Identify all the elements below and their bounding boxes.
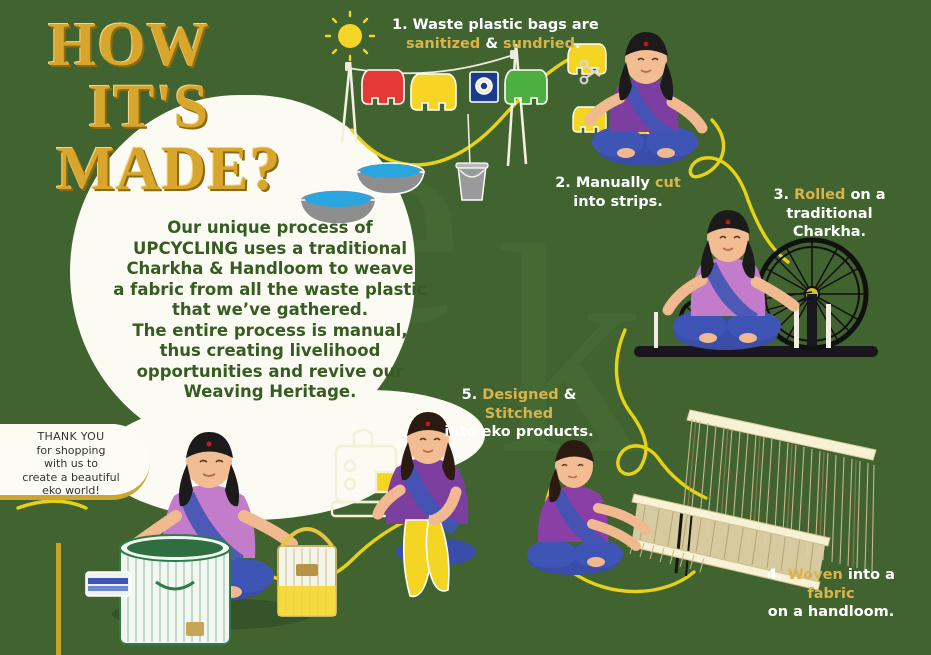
step-5-highlight-1: Designed [482,387,558,403]
step-3-text-1: on a [845,187,885,203]
step-1-text-1: Waste plastic bags are [408,17,599,33]
step-5-caption: 5. Designed & Stitched into eko products… [433,386,605,442]
thanks-line-2: for shopping [2,444,140,458]
title-line-1: HOW [48,14,348,76]
step-5-highlight-2: Stitched [485,406,553,422]
gold-vertical-rule [56,543,61,655]
step-4-caption: 4. Woven into a fabric on a handloom. [745,566,917,622]
step-1-amp: & [480,36,503,52]
thanks-line-3: with us to [2,457,140,471]
step-3-highlight: Rolled [794,187,845,203]
thank-you-banner: THANK YOU for shopping with us to create… [0,424,150,500]
step-2-highlight: cut [655,175,681,191]
step-3-number: 3. [773,187,789,203]
thanks-line-5: eko world! [2,484,140,498]
step-2-number: 2. [555,175,571,191]
intro-line-7: thus creating livelihood [110,341,430,362]
step-5-line-2: into eko products. [444,424,593,440]
intro-line-6: The entire process is manual, [110,321,430,342]
step-2-line-2: into strips. [573,194,662,210]
step-1-highlight-2: sundried [503,36,575,52]
intro-line-4: a fabric from all the waste plastic [110,280,430,301]
title-line-3: MADE? [56,138,348,200]
intro-line-9: Weaving Heritage. [110,382,430,403]
step-1-number: 1. [392,17,408,33]
step-3-caption: 3. Rolled on a traditional Charkha. [752,186,907,242]
step-1-highlight-1: sanitized [406,36,480,52]
step-5-amp: & [559,387,577,403]
step-4-number: 4. [767,567,783,583]
step-4-line-2: on a handloom. [768,604,895,620]
eko-wallet [86,572,130,596]
step-4-highlight-1: Woven [788,567,843,583]
step-2-text-1: Manually [571,175,655,191]
woman-weaving [512,432,682,602]
title-line-2: IT'S [88,76,348,138]
infographic-poster: e k HOW IT'S MADE? [0,0,931,655]
intro-line-3: Charkha & Handloom to weave [110,259,430,280]
step-4-text-1: into a [843,567,895,583]
intro-line-8: opportunities and revive our [110,362,430,383]
step-1-period: . [575,36,581,52]
eko-small-basket [278,529,336,616]
thanks-line-1: THANK YOU [2,430,140,444]
intro-line-5: that we’ve gathered. [110,300,430,321]
step-1-caption: 1. Waste plastic bags are sanitized & su… [392,16,599,53]
eko-storage-bin [120,535,230,644]
thanks-line-4: create a beautiful [2,471,140,485]
intro-line-1: Our unique process of [110,218,430,239]
green-bag [505,70,547,104]
intro-paragraph: Our unique process of UPCYCLING uses a t… [110,218,430,403]
red-bag [362,70,404,104]
page-title: HOW IT'S MADE? [48,14,348,200]
intro-line-2: UPCYCLING uses a traditional [110,239,430,260]
hanging-bucket [456,114,488,200]
woman-at-sewing-machine [330,412,530,612]
step-5-number: 5. [462,387,478,403]
step-4-highlight-2: fabric [807,586,854,602]
yellow-bag [411,74,456,110]
step-3-line-2: traditional Charkha. [786,206,872,241]
step-2-caption: 2. Manually cut into strips. [553,174,683,211]
